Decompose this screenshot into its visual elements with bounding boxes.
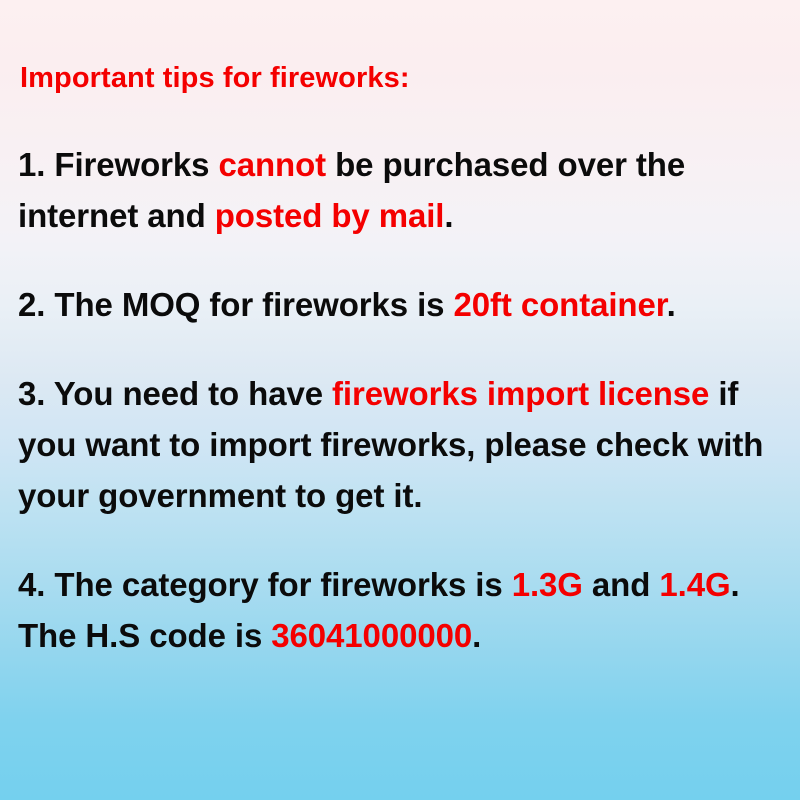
page-title: Important tips for fireworks: bbox=[20, 62, 786, 95]
tip-4-segment-3: and bbox=[583, 566, 660, 603]
tip-1-segment-5: . bbox=[444, 197, 453, 234]
tip-3-segment-2: fireworks import license bbox=[332, 375, 709, 412]
tip-4-segment-1: 4. The category for fireworks is bbox=[18, 566, 512, 603]
tip-4-segment-4: 1.4G bbox=[659, 566, 730, 603]
tip-1-segment-2: cannot bbox=[218, 146, 326, 183]
tip-4-segment-6: 36041000000 bbox=[271, 617, 472, 654]
tip-4-segment-7: . bbox=[472, 617, 481, 654]
tip-1-segment-1: 1. Fireworks bbox=[18, 146, 218, 183]
fireworks-tips-poster: Important tips for fireworks: 1. Firewor… bbox=[0, 0, 800, 800]
poster-content: Important tips for fireworks: 1. Firewor… bbox=[18, 62, 786, 661]
tip-item-3: 3. You need to have fireworks import lic… bbox=[18, 368, 784, 521]
tip-4-segment-2: 1.3G bbox=[512, 566, 583, 603]
tip-1-segment-4: posted by mail bbox=[215, 197, 445, 234]
tip-item-1: 1. Fireworks cannot be purchased over th… bbox=[18, 139, 784, 241]
tip-2-segment-2: 20ft container bbox=[453, 286, 666, 323]
tip-3-segment-1: 3. You need to have bbox=[18, 375, 332, 412]
tip-2-segment-1: 2. The MOQ for fireworks is bbox=[18, 286, 453, 323]
tip-item-2: 2. The MOQ for fireworks is 20ft contain… bbox=[18, 279, 784, 330]
tip-2-segment-3: . bbox=[667, 286, 676, 323]
tip-item-4: 4. The category for fireworks is 1.3G an… bbox=[18, 559, 784, 661]
